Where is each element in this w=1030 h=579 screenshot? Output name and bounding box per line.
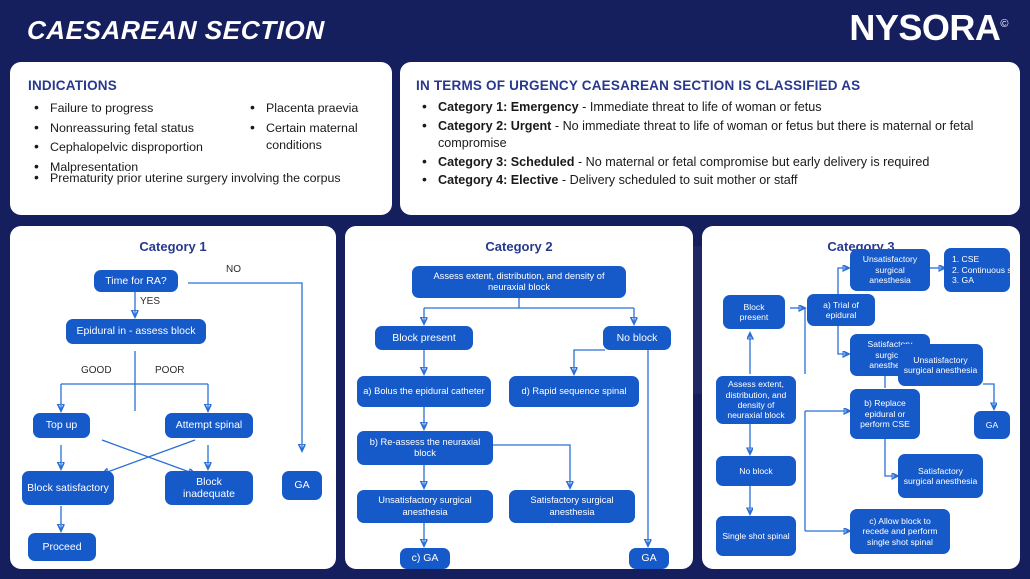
- list-item: Prematurity prior uterine surgery involv…: [30, 170, 386, 188]
- category1-panel: Category 1 Time: [10, 226, 336, 569]
- node-block-present[interactable]: Block present: [375, 326, 473, 350]
- node-options-list[interactable]: 1. CSE 2. Continuous spinal 3. GA: [944, 248, 1010, 292]
- node-rapid-sequence-spinal[interactable]: d) Rapid sequence spinal: [509, 376, 639, 407]
- category-text: - Immediate threat to life of woman or f…: [579, 100, 822, 114]
- indications-panel: INDICATIONS Failure to progress Nonreass…: [10, 62, 392, 215]
- list-item: Nonreassuring fetal status: [30, 120, 245, 138]
- nysora-logo: NYSORA©: [849, 7, 1008, 49]
- category-label: Category 1: Emergency: [438, 100, 579, 114]
- node-trial-of-epidural[interactable]: a) Trial of epidural: [807, 294, 875, 326]
- registered-mark-icon: ©: [1000, 18, 1008, 30]
- edge-label-good: GOOD: [81, 365, 112, 376]
- node-block-satisfactory[interactable]: Block satisfactory: [22, 471, 114, 505]
- category1-flowchart: Category 1 Time: [10, 226, 336, 569]
- page-header: CAESAREAN SECTION NYSORA©: [0, 0, 1030, 58]
- brand-text: NYSORA: [849, 7, 1000, 48]
- node-assess-neuraxial-block[interactable]: Assess extent, distribution, and density…: [716, 376, 796, 424]
- node-epidural-assess-block[interactable]: Epidural in - assess block: [66, 319, 206, 344]
- urgency-list: Category 1: Emergency - Immediate threat…: [418, 99, 1008, 191]
- list-item: Failure to progress: [30, 100, 245, 118]
- page-title: CAESAREAN SECTION: [26, 15, 325, 46]
- edge-label-no: NO: [226, 264, 241, 275]
- indications-list-left: Failure to progress Nonreassuring fetal …: [30, 100, 245, 178]
- category-label: Category 4: Elective: [438, 173, 558, 187]
- node-replace-epidural-cse[interactable]: b) Replace epidural or perform CSE: [850, 389, 920, 439]
- indications-list-wide: Prematurity prior uterine surgery involv…: [30, 170, 386, 190]
- urgency-panel: IN TERMS OF URGENCY CAESAREAN SECTION IS…: [400, 62, 1020, 215]
- node-proceed[interactable]: Proceed: [28, 533, 96, 561]
- category-label: Category 3: Scheduled: [438, 155, 574, 169]
- node-ga[interactable]: GA: [282, 471, 322, 500]
- category-text: - No maternal or fetal compromise but ea…: [574, 155, 929, 169]
- node-satisfactory-anesthesia-mid[interactable]: Satisfactory surgical anesthesia: [898, 454, 983, 498]
- edge-label-yes: YES: [140, 296, 160, 307]
- urgency-title: IN TERMS OF URGENCY CAESAREAN SECTION IS…: [416, 78, 860, 93]
- node-ga-c[interactable]: c) GA: [400, 548, 450, 569]
- node-single-shot-spinal[interactable]: Single shot spinal: [716, 516, 796, 556]
- indications-title: INDICATIONS: [28, 78, 117, 93]
- node-assess-neuraxial-block[interactable]: Assess extent, distribution, and density…: [412, 266, 626, 298]
- node-unsatisfactory-anesthesia-top[interactable]: Unsatisfactory surgical anesthesia: [850, 249, 930, 291]
- node-allow-block-recede[interactable]: c) Allow block to recede and perform sin…: [850, 509, 950, 554]
- list-item: Category 4: Elective - Delivery schedule…: [418, 172, 1008, 190]
- category-label: Category 2: Urgent: [438, 119, 551, 133]
- category3-panel: Category 3: [702, 226, 1020, 569]
- node-no-block[interactable]: No block: [716, 456, 796, 486]
- node-unsatisfactory-anesthesia-mid[interactable]: Unsatisfactory surgical anesthesia: [898, 344, 983, 386]
- node-attempt-spinal[interactable]: Attempt spinal: [165, 413, 253, 438]
- node-block-present[interactable]: Block present: [723, 295, 785, 329]
- list-item: Certain maternal conditions: [246, 120, 386, 155]
- indications-list-right: Placenta praevia Certain maternal condit…: [246, 100, 386, 157]
- node-ga[interactable]: GA: [974, 411, 1010, 439]
- node-reassess-neuraxial-block[interactable]: b) Re-assess the neuraxial block: [357, 431, 493, 465]
- node-block-inadequate[interactable]: Block inadequate: [165, 471, 253, 505]
- node-satisfactory-anesthesia[interactable]: Satisfactory surgical anesthesia: [509, 490, 635, 523]
- node-no-block[interactable]: No block: [603, 326, 671, 350]
- list-item: Placenta praevia: [246, 100, 386, 118]
- list-item: Category 1: Emergency - Immediate threat…: [418, 99, 1008, 117]
- category3-flowchart: Category 3: [702, 226, 1020, 569]
- category2-panel: Category 2: [345, 226, 693, 569]
- list-item: Cephalopelvic disproportion: [30, 139, 245, 157]
- list-item: Category 3: Scheduled - No maternal or f…: [418, 154, 1008, 172]
- node-unsatisfactory-anesthesia[interactable]: Unsatisfactory surgical anesthesia: [357, 490, 493, 523]
- node-ga[interactable]: GA: [629, 548, 669, 569]
- edge-label-poor: POOR: [155, 365, 184, 376]
- list-item: Category 2: Urgent - No immediate threat…: [418, 118, 1008, 153]
- category-text: - Delivery scheduled to suit mother or s…: [558, 173, 797, 187]
- node-time-for-ra[interactable]: Time for RA?: [94, 270, 178, 292]
- category2-flowchart: Category 2: [345, 226, 693, 569]
- node-bolus-epidural-catheter[interactable]: a) Bolus the epidural catheter: [357, 376, 491, 407]
- node-top-up[interactable]: Top up: [33, 413, 90, 438]
